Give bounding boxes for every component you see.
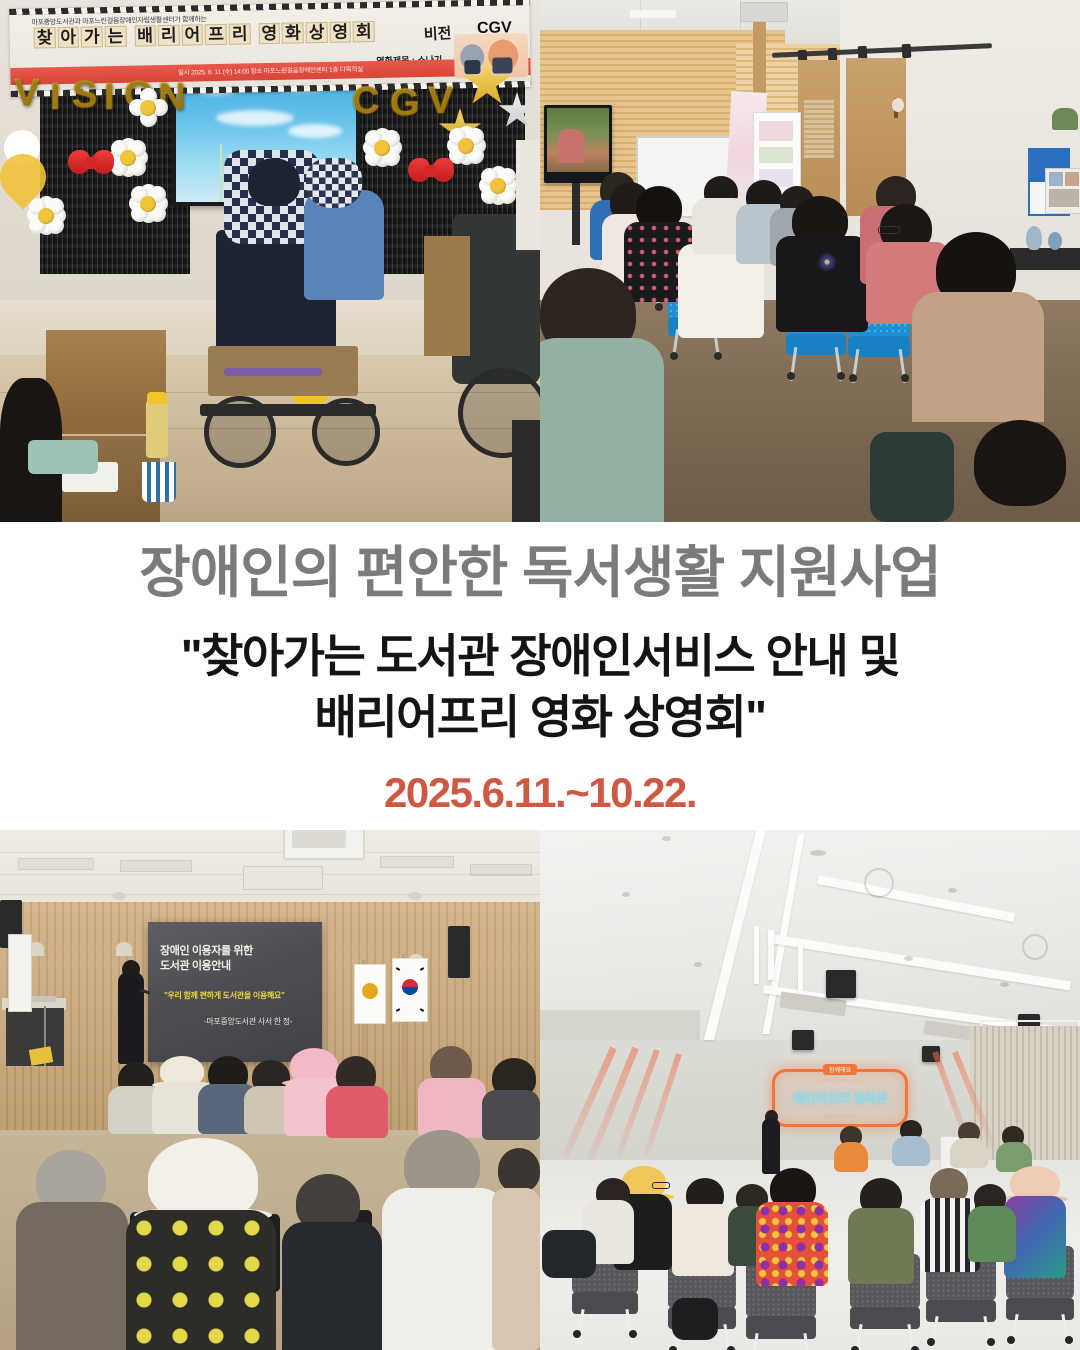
photo-bottom-left-library-lecture: 장애인 이용자를 위한 도서관 이용안내 "우리 함께 편하게 도서관을 이용해…: [0, 830, 540, 1350]
green-towel: [28, 440, 98, 474]
ceiling-vent: [740, 2, 788, 22]
audience-body: [482, 1090, 540, 1140]
slide-credit: -마포중앙도서관 사서 한 정-: [204, 1016, 292, 1027]
vase: [1048, 232, 1062, 250]
slide-badge: 함께해요: [823, 1064, 857, 1075]
subtitle-line-1: "찾아가는 도서관 장애인서비스 안내 및: [0, 626, 1080, 687]
audience-body: [418, 1078, 486, 1138]
window-left: [8, 934, 32, 1012]
photo-top-right-library-viewing: [540, 0, 1080, 522]
wall-right-edge: [516, 140, 540, 250]
audience-body: [848, 1208, 914, 1284]
red-bow-decoration: [408, 158, 454, 184]
balloon-letter-g: G: [390, 84, 420, 122]
audience-white-hat-front: [148, 1138, 258, 1220]
presenter-body: [762, 1118, 780, 1174]
person-head-covered: [248, 158, 300, 206]
audience-body: [756, 1202, 828, 1286]
audience-body: [950, 1138, 988, 1168]
subtitle-line-2: 배리어프리 영화 상영회": [0, 687, 1080, 748]
daisy-balloon: [128, 88, 168, 128]
poster-text-band: 장애인의 편안한 독서생활 지원사업 "찾아가는 도서관 장애인서비스 안내 및…: [0, 522, 1080, 830]
audience-body: [326, 1086, 388, 1138]
slide-sub-text: 마포중앙도서관: [824, 1113, 856, 1120]
backpack-on-floor: [542, 1230, 596, 1278]
backpack: [870, 432, 954, 522]
potted-plant: [1052, 108, 1078, 130]
balloon-letter-c: C: [352, 82, 379, 120]
bottle-cap: [147, 392, 167, 404]
daisy-balloon: [26, 196, 66, 236]
second-person-head: [306, 158, 362, 208]
audience-head-edge: [498, 1148, 540, 1192]
ceiling-projector: [826, 970, 856, 998]
person-body: [912, 292, 1044, 422]
wall-light: [116, 942, 132, 956]
audience-body-front: [126, 1210, 276, 1350]
tv-monitor: [544, 105, 612, 183]
wall-speaker-right: [448, 926, 470, 978]
banner-schedule-text: 일시 2025. 6. 11.(수) 14:00 장소 마포느린걸음장애인센터 …: [178, 63, 363, 77]
projection-screen: 장애인 이용자를 위한 도서관 이용안내 "우리 함께 편하게 도서관을 이용해…: [148, 922, 322, 1062]
audience-body: [672, 1204, 734, 1276]
photo-frame: [1045, 168, 1080, 214]
poster-subtitle: "찾아가는 도서관 장애인서비스 안내 및 배리어프리 영화 상영회": [0, 626, 1080, 747]
daisy-balloon: [108, 138, 148, 178]
tshirt-graphic: [804, 248, 850, 276]
air-conditioner-vent: [243, 866, 323, 890]
vase: [1026, 226, 1042, 250]
shelf-objects: [1010, 248, 1080, 270]
desk-right: [424, 236, 470, 356]
balloon-letter-i2: I: [104, 78, 115, 116]
audience-pink-hat: [1010, 1166, 1060, 1200]
photo-bottom-right-barrier-free-cinema: 함께해요 모두가 함께하는 영화 배리어프리 영화관 마포중앙도서관: [540, 830, 1080, 1350]
audience-body: [968, 1206, 1016, 1262]
ceiling-speaker: [408, 892, 422, 900]
korean-flag: [392, 958, 428, 1022]
ceiling-projector: [292, 830, 346, 848]
water-bottle: [146, 400, 168, 458]
organization-flag: [354, 964, 386, 1024]
slide-main-text: 배리어프리 영화관: [793, 1088, 888, 1107]
presenter-body: [118, 972, 144, 1064]
slide-title: 장애인 이용자를 위한 도서관 이용안내: [160, 944, 253, 974]
ceiling-projector: [792, 1030, 814, 1050]
poster-root: 마포중앙도서관과 마포느린걸음장애인자립생활센터가 함께하는 찾 아 가 는 배…: [0, 0, 1080, 1350]
balloon-letter-g2: V: [428, 82, 453, 120]
balloon-letter-v: V: [14, 74, 39, 112]
ceiling-speaker: [112, 892, 126, 900]
eyeglasses: [878, 226, 900, 234]
daisy-balloon: [478, 166, 518, 206]
tv-stand: [572, 183, 580, 245]
ceiling-light: [630, 10, 676, 18]
person-body-foreground: [540, 338, 664, 522]
eyeglasses: [652, 1182, 670, 1189]
person-head-foreground-right: [974, 420, 1066, 506]
banner-vision-text: 비전: [424, 22, 453, 44]
slide-small-text: 모두가 함께하는 영화: [818, 1078, 862, 1085]
door-sign: [892, 98, 904, 112]
person-right-foreground: [512, 420, 540, 522]
balloon-letter-s: S: [72, 76, 97, 114]
balloon-letter-i: I: [50, 78, 61, 116]
slide-quote: "우리 함께 편하게 도서관을 이용해요": [164, 990, 285, 1001]
photo-top-left-barrier-free-screening: 마포중앙도서관과 마포느린걸음장애인자립생활센터가 함께하는 찾 아 가 는 배…: [0, 0, 540, 522]
audience-body: [892, 1136, 930, 1166]
red-bow-decoration: [68, 150, 114, 176]
audience-body-front: [282, 1222, 382, 1350]
audience-body-front-right: [382, 1188, 506, 1350]
bag-on-floor: [672, 1298, 718, 1340]
wheelchair-frame: [200, 404, 376, 416]
daisy-balloon: [362, 128, 402, 168]
projected-slide: 함께해요 모두가 함께하는 영화 배리어프리 영화관 마포중앙도서관: [772, 1069, 908, 1127]
event-date-range: 2025.6.11.~10.22.: [0, 772, 1080, 814]
paper-cup: [142, 462, 176, 502]
wheelchair-strap: [224, 368, 322, 376]
page-title: 장애인의 편안한 독서생활 지원사업: [0, 544, 1080, 603]
daisy-balloon: [128, 184, 168, 224]
audience-body-edge: [492, 1188, 540, 1350]
audience-body-front: [16, 1202, 128, 1350]
audience-body: [834, 1142, 868, 1172]
